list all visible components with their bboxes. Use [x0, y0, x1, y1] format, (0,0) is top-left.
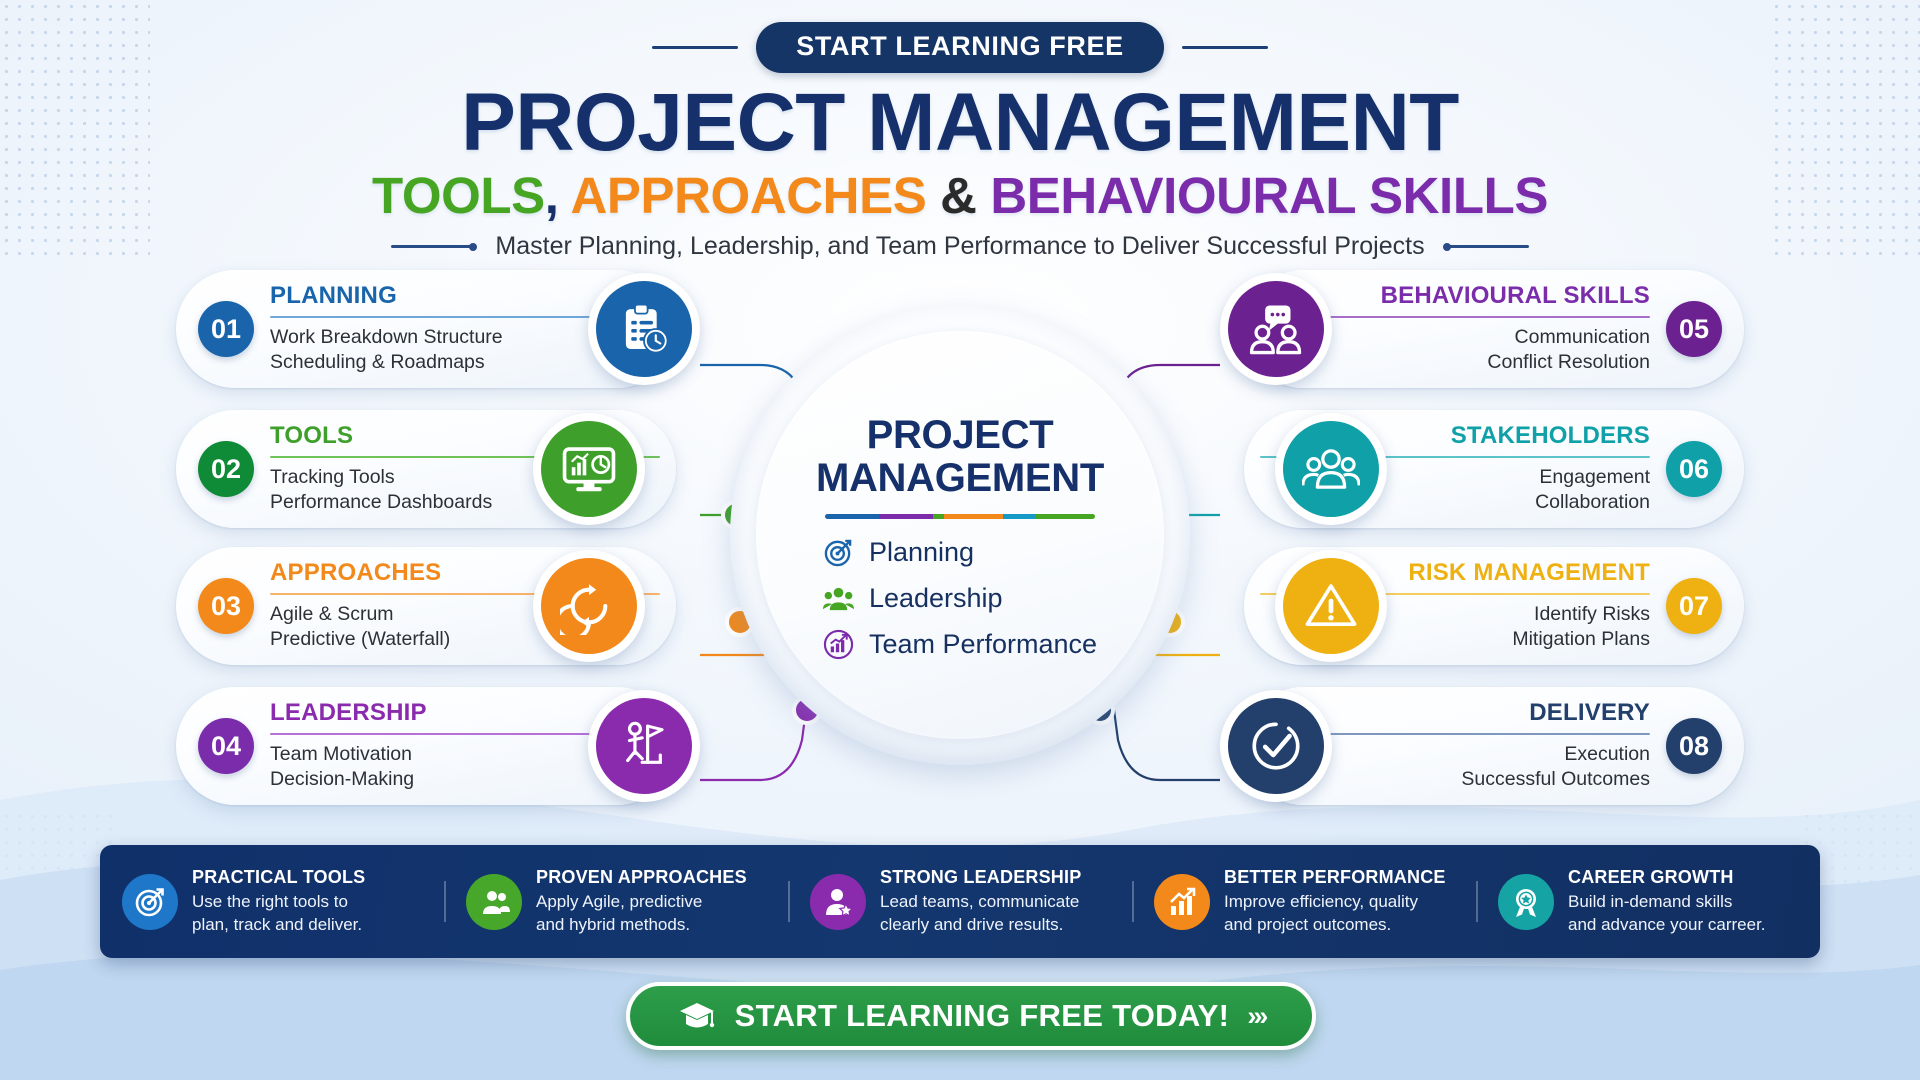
clipboard-clock-icon	[615, 300, 673, 358]
card-06-icon-badge	[1275, 413, 1387, 525]
benefit-icon-wrap	[1498, 874, 1554, 930]
benefit-better-performance: BETTER PERFORMANCE Improve efficiency, q…	[1132, 867, 1476, 936]
benefit-proven-approaches: PROVEN APPROACHES Apply Agile, predictiv…	[444, 867, 788, 936]
award-ribbon-icon	[1510, 886, 1542, 918]
people-icon	[823, 583, 854, 614]
hub-item-label: Team Performance	[869, 629, 1097, 660]
tagline: Master Planning, Leadership, and Team Pe…	[495, 232, 1424, 261]
benefit-desc-line1: Apply Agile, predictive	[536, 891, 747, 913]
agile-cycle-icon	[560, 577, 618, 635]
subtitle-ampersand: &	[940, 167, 976, 224]
subtitle-approaches: APPROACHES	[570, 167, 926, 224]
hub-color-bar	[825, 514, 1095, 519]
benefit-title: PRACTICAL TOOLS	[192, 867, 365, 889]
benefit-desc-line2: and project outcomes.	[1224, 914, 1446, 936]
benefit-title: STRONG LEADERSHIP	[880, 867, 1081, 889]
start-learning-badge: START LEARNING FREE	[756, 22, 1163, 73]
person-star-icon	[822, 886, 854, 918]
hub-item-leadership: Leadership	[823, 583, 1097, 614]
card-08-icon-badge	[1220, 690, 1332, 802]
benefit-text: PROVEN APPROACHES Apply Agile, predictiv…	[536, 867, 747, 936]
benefit-text: STRONG LEADERSHIP Lead teams, communicat…	[880, 867, 1081, 936]
tagline-rule-left	[391, 245, 473, 248]
target-icon	[823, 537, 854, 568]
card-number: 03	[198, 578, 254, 634]
benefit-desc-line2: and advance your carreer.	[1568, 914, 1766, 936]
card-number: 02	[198, 441, 254, 497]
leader-flag-icon	[615, 717, 673, 775]
check-circle-icon	[1247, 717, 1305, 775]
central-hub: PROJECT MANAGEMENT Planning	[730, 305, 1190, 765]
card-number: 06	[1666, 441, 1722, 497]
hub-inner-panel: PROJECT MANAGEMENT Planning	[756, 331, 1164, 739]
card-number: 04	[198, 718, 254, 774]
card-number: 01	[198, 301, 254, 357]
benefit-text: CAREER GROWTH Build in-demand skills and…	[1568, 867, 1766, 936]
hub-item-team-performance: Team Performance	[823, 629, 1097, 660]
benefit-strong-leadership: STRONG LEADERSHIP Lead teams, communicat…	[788, 867, 1132, 936]
hub-title-line1: PROJECT	[816, 414, 1104, 456]
benefit-icon-wrap	[1154, 874, 1210, 930]
hub-item-planning: Planning	[823, 537, 1097, 568]
monitor-chart-icon	[560, 440, 618, 498]
card-number: 07	[1666, 578, 1722, 634]
badge-rule-right	[1182, 46, 1268, 49]
benefit-icon-wrap	[810, 874, 866, 930]
tagline-row: Master Planning, Leadership, and Team Pe…	[0, 232, 1920, 261]
benefit-title: PROVEN APPROACHES	[536, 867, 747, 889]
benefit-desc-line1: Build in-demand skills	[1568, 891, 1766, 913]
page-title: PROJECT MANAGEMENT	[0, 81, 1920, 165]
hub-item-label: Planning	[869, 537, 974, 568]
benefits-bar: PRACTICAL TOOLS Use the right tools to p…	[100, 845, 1820, 958]
hub-item-list: Planning Leadership	[823, 537, 1097, 660]
benefit-desc-line2: clearly and drive results.	[880, 914, 1081, 936]
card-07-icon-badge	[1275, 550, 1387, 662]
growth-chart-icon	[823, 629, 854, 660]
card-01-icon-badge	[588, 273, 700, 385]
warning-triangle-icon	[1302, 577, 1360, 635]
hub-item-label: Leadership	[869, 583, 1003, 614]
hub-title: PROJECT MANAGEMENT	[816, 414, 1104, 499]
benefit-desc-line1: Lead teams, communicate	[880, 891, 1081, 913]
cta-label: START LEARNING FREE TODAY!	[735, 998, 1230, 1034]
group-people-icon	[1302, 440, 1360, 498]
benefit-desc-line2: plan, track and deliver.	[192, 914, 365, 936]
benefit-career-growth: CAREER GROWTH Build in-demand skills and…	[1476, 867, 1820, 936]
card-04-icon-badge	[588, 690, 700, 802]
graduation-cap-icon	[677, 996, 717, 1036]
diagram-area: PROJECT MANAGEMENT Planning	[0, 270, 1920, 830]
start-learning-cta-button[interactable]: START LEARNING FREE TODAY! »›	[626, 982, 1316, 1050]
benefit-text: BETTER PERFORMANCE Improve efficiency, q…	[1224, 867, 1446, 936]
badge-rule-left	[652, 46, 738, 49]
card-02-icon-badge	[533, 413, 645, 525]
card-number: 05	[1666, 301, 1722, 357]
card-05-icon-badge	[1220, 273, 1332, 385]
target-icon	[134, 886, 166, 918]
subtitle-comma: ,	[545, 167, 559, 224]
benefit-title: BETTER PERFORMANCE	[1224, 867, 1446, 889]
people-group-icon	[478, 886, 510, 918]
benefit-title: CAREER GROWTH	[1568, 867, 1766, 889]
chevron-right-icon: »›	[1247, 1001, 1265, 1032]
subtitle-tools: TOOLS	[372, 167, 545, 224]
card-number: 08	[1666, 718, 1722, 774]
benefit-practical-tools: PRACTICAL TOOLS Use the right tools to p…	[100, 867, 444, 936]
header: START LEARNING FREE PROJECT MANAGEMENT T…	[0, 0, 1920, 261]
benefit-icon-wrap	[122, 874, 178, 930]
badge-row: START LEARNING FREE	[0, 22, 1920, 73]
subtitle-behavioural-skills: BEHAVIOURAL SKILLS	[990, 167, 1548, 224]
chat-people-icon	[1247, 300, 1305, 358]
card-03-icon-badge	[533, 550, 645, 662]
benefit-desc-line1: Improve efficiency, quality	[1224, 891, 1446, 913]
benefit-desc-line2: and hybrid methods.	[536, 914, 747, 936]
page-subtitle: TOOLS, APPROACHES & BEHAVIOURAL SKILLS	[0, 169, 1920, 223]
benefit-icon-wrap	[466, 874, 522, 930]
benefit-text: PRACTICAL TOOLS Use the right tools to p…	[192, 867, 365, 936]
bar-chart-arrow-icon	[1166, 886, 1198, 918]
hub-title-line2: MANAGEMENT	[816, 457, 1104, 499]
benefit-desc-line1: Use the right tools to	[192, 891, 365, 913]
tagline-rule-right	[1447, 245, 1529, 248]
